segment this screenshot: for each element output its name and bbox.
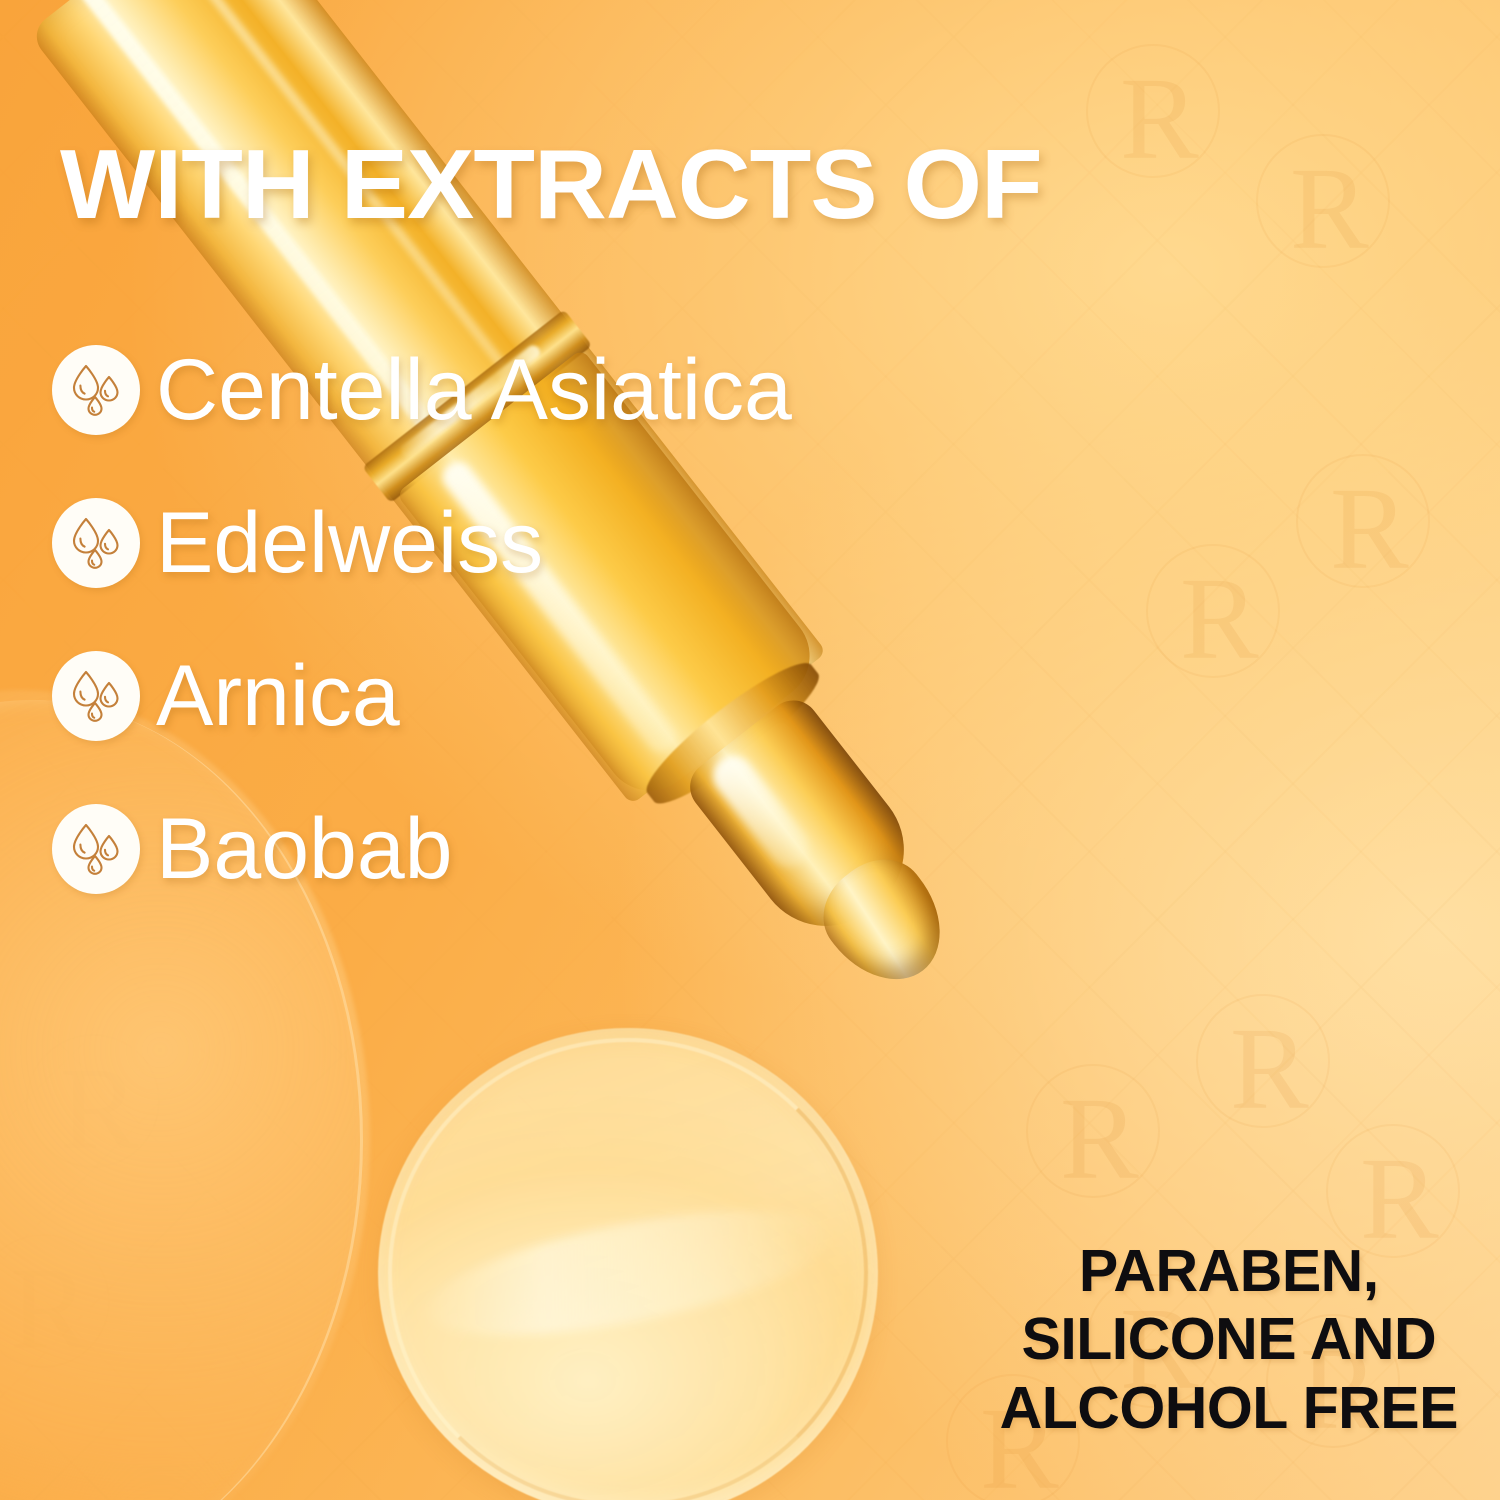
oil-pool-droplet bbox=[378, 1028, 878, 1500]
list-item: Edelweiss bbox=[52, 493, 1062, 593]
water-droplets-icon bbox=[52, 345, 140, 435]
list-item: Arnica bbox=[52, 646, 1062, 746]
product-infographic: R R R R R R R R R R R R WITH EXTRACTS OF bbox=[0, 0, 1500, 1500]
extract-label: Arnica bbox=[156, 653, 400, 739]
page-title: WITH EXTRACTS OF bbox=[60, 128, 1042, 241]
extract-label: Centella Asiatica bbox=[156, 347, 792, 433]
list-item: Centella Asiatica bbox=[52, 340, 1062, 440]
claim-line-2: SILICONE AND bbox=[1000, 1305, 1458, 1373]
free-from-claim: PARABEN, SILICONE AND ALCOHOL FREE bbox=[1000, 1237, 1458, 1442]
claim-line-1: PARABEN, bbox=[1000, 1237, 1458, 1305]
water-droplets-icon bbox=[52, 498, 140, 588]
extract-label: Baobab bbox=[156, 806, 453, 892]
claim-line-3: ALCOHOL FREE bbox=[1000, 1374, 1458, 1442]
extract-list: Centella Asiatica Edelweiss bbox=[52, 340, 1062, 952]
extract-label: Edelweiss bbox=[156, 500, 543, 586]
water-droplets-icon bbox=[52, 804, 140, 894]
water-droplets-icon bbox=[52, 651, 140, 741]
list-item: Baobab bbox=[52, 799, 1062, 899]
